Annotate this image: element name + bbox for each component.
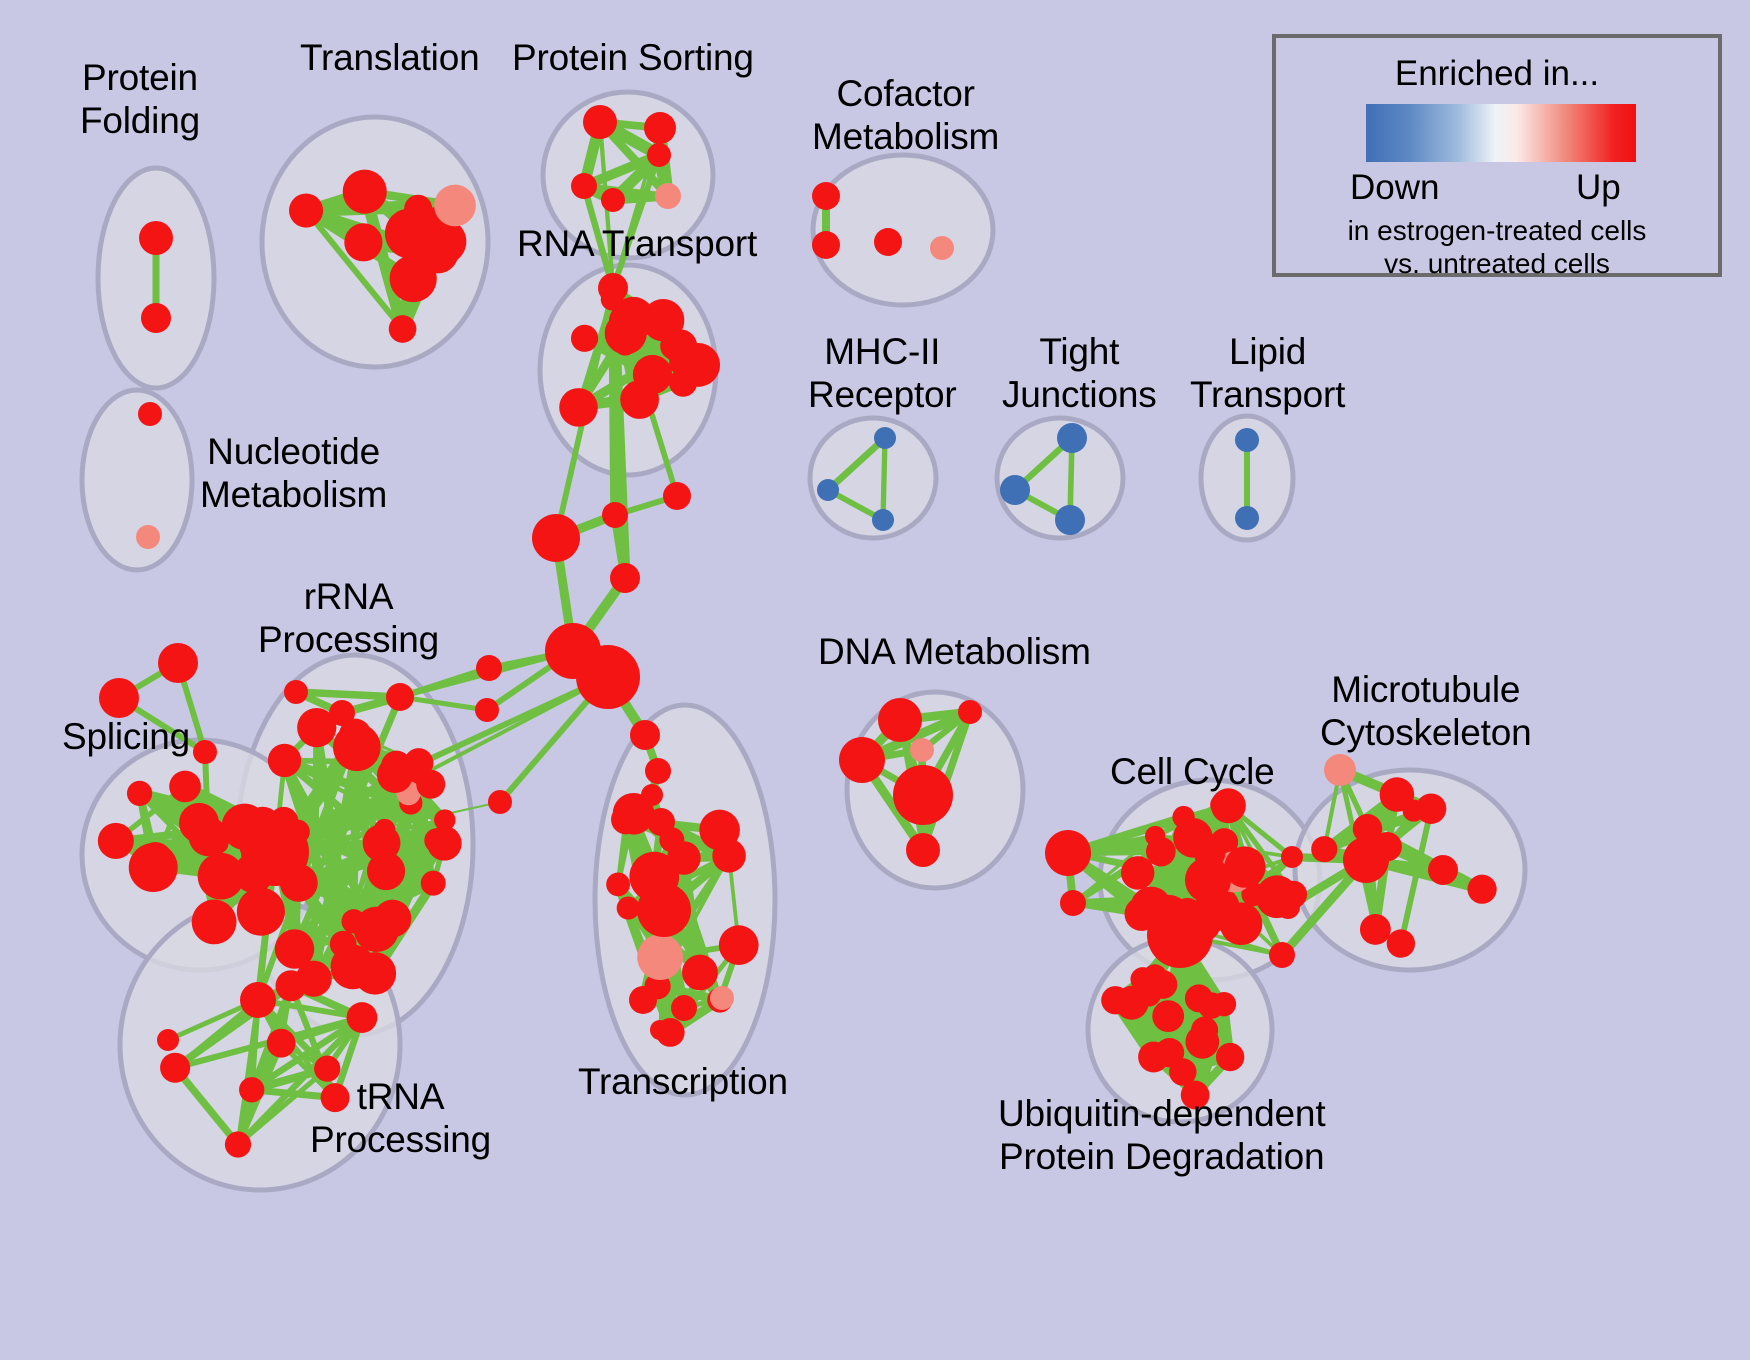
network-node [1210,794,1231,815]
network-node [610,563,640,593]
network-node [157,1029,179,1051]
network-node [386,683,414,711]
network-node [1235,428,1259,452]
cluster-label-transcription: Transcription [578,1060,788,1103]
network-node [630,720,660,750]
cluster-label-nucleotide-metabolism: Nucleotide Metabolism [200,430,387,516]
network-node [434,185,476,227]
network-edge [883,438,885,520]
network-node [671,995,697,1021]
network-node [598,273,628,303]
network-node [1147,902,1213,968]
network-node [160,1053,190,1083]
network-node [647,808,675,836]
network-node [488,790,512,814]
cluster-label-mhc-ii-receptor: MHC-II Receptor [808,330,957,416]
network-node [660,332,688,360]
network-node [347,1002,378,1033]
network-node [623,383,650,410]
network-node [559,388,598,427]
network-node [641,784,663,806]
network-node [333,723,381,771]
network-node [637,934,683,980]
enrichment-map-figure: Protein FoldingTranslationProtein Sortin… [0,0,1750,1360]
network-node [1387,929,1415,957]
network-node [343,170,387,214]
network-node [1311,836,1337,862]
cluster-label-splicing: Splicing [62,715,190,758]
network-node [839,737,885,783]
cluster-label-rna-transport: RNA Transport [517,222,757,265]
network-node [606,872,630,896]
network-node [476,655,502,681]
network-node [571,325,598,352]
network-node [958,700,982,724]
cluster-label-rrna-processing: rRNA Processing [258,575,439,661]
network-node [893,765,953,825]
network-node [240,982,276,1018]
network-node [906,833,940,867]
network-node [141,303,171,333]
cluster-label-protein-folding: Protein Folding [80,56,200,142]
network-node [1281,846,1303,868]
network-node [99,678,139,718]
network-node [127,781,152,806]
network-node [98,823,134,859]
network-node [136,525,160,549]
network-node [667,841,701,875]
network-node [237,888,285,936]
network-node [377,757,413,793]
network-node [1172,806,1194,828]
network-node [374,819,396,841]
network-node [571,173,597,199]
cluster-label-tight-junctions: Tight Junctions [1002,330,1157,416]
network-node [874,427,896,449]
network-node [817,479,839,501]
network-node [532,514,580,562]
network-node [878,698,922,742]
network-node [583,105,617,139]
network-node [331,945,376,990]
network-node [241,818,309,886]
network-node [267,1029,296,1058]
network-node [1060,890,1086,916]
network-node [344,223,382,261]
network-node [1101,986,1129,1014]
network-node [1121,856,1154,889]
network-node [1216,1043,1244,1071]
network-node [576,645,640,709]
network-node [1138,1042,1169,1073]
network-node [1276,895,1300,919]
network-node [1152,1000,1184,1032]
network-node [225,1131,251,1157]
network-node [1185,1025,1219,1059]
network-node [1057,423,1087,453]
network-node [389,315,417,343]
network-node [329,700,355,726]
network-node [609,302,646,339]
network-node [682,955,718,991]
network-node [138,402,162,426]
cluster-label-protein-sorting: Protein Sorting [512,36,754,79]
network-node [1380,777,1415,812]
cluster-label-ubiquitin-degradation: Ubiquitin-dependent Protein Degradation [998,1092,1325,1178]
network-node [655,183,681,209]
network-node [629,986,657,1014]
cluster-hull-nucleotide-metabolism [82,390,192,570]
network-node [289,193,323,227]
network-node [644,112,676,144]
cluster-label-cofactor-metabolism: Cofactor Metabolism [812,72,999,158]
network-node [193,740,217,764]
cluster-label-translation: Translation [300,36,479,79]
network-node [475,698,499,722]
network-node [1045,830,1091,876]
network-node [699,810,740,851]
network-node [710,986,734,1010]
cluster-label-lipid-transport: Lipid Transport [1190,330,1345,416]
network-node [637,883,691,937]
network-node [239,1077,264,1102]
network-node [139,221,173,255]
network-node [1343,837,1389,883]
network-node [812,231,840,259]
network-node [719,925,759,965]
network-node [1428,855,1458,885]
network-node [872,509,894,531]
network-node [385,208,435,258]
network-node [617,897,640,920]
network-node [1185,857,1231,903]
legend-box: Enriched in... Down Up in estrogen-treat… [1272,34,1722,277]
network-node [602,502,628,528]
network-node [421,871,446,896]
network-node [874,228,902,256]
network-node [1055,505,1085,535]
network-node [1324,754,1356,786]
network-node [138,842,172,876]
network-node [645,758,671,784]
cluster-label-trna-processing: tRNA Processing [310,1075,491,1161]
network-node [192,900,237,945]
legend-down-label: Down [1350,168,1439,208]
network-node [424,828,449,853]
legend-up-label: Up [1576,168,1621,208]
network-node [650,1020,670,1040]
network-node [1149,970,1178,999]
legend-title: Enriched in... [1276,54,1718,94]
network-node [611,805,641,835]
network-node [1212,992,1236,1016]
network-node [930,236,954,260]
network-node [1169,1058,1196,1085]
network-node [268,744,301,777]
network-node [1467,875,1496,904]
network-node [1360,914,1391,945]
network-node [1235,506,1259,530]
network-node [275,970,306,1001]
legend-color-bar [1366,104,1636,162]
network-node [367,852,405,890]
network-node [158,643,198,683]
network-node [1000,475,1030,505]
cluster-label-microtubule-cytoskeleton: Microtubule Cytoskeleton [1320,668,1532,754]
cluster-hull-cofactor-metabolism [813,155,993,305]
network-node [179,803,219,843]
network-node [341,909,365,933]
cluster-label-dna-metabolism: DNA Metabolism [818,630,1091,673]
network-edge [296,692,400,697]
network-node [663,482,691,510]
network-node [284,680,308,704]
network-node [601,188,625,212]
network-node [647,143,671,167]
network-node [169,771,201,803]
cluster-label-cell-cycle: Cell Cycle [1110,750,1275,793]
network-node [812,182,840,210]
legend-subtitle: in estrogen-treated cells vs. untreated … [1276,214,1718,280]
network-node [910,738,934,762]
network-node [1269,942,1295,968]
network-node [390,255,437,302]
network-node [1220,902,1263,945]
